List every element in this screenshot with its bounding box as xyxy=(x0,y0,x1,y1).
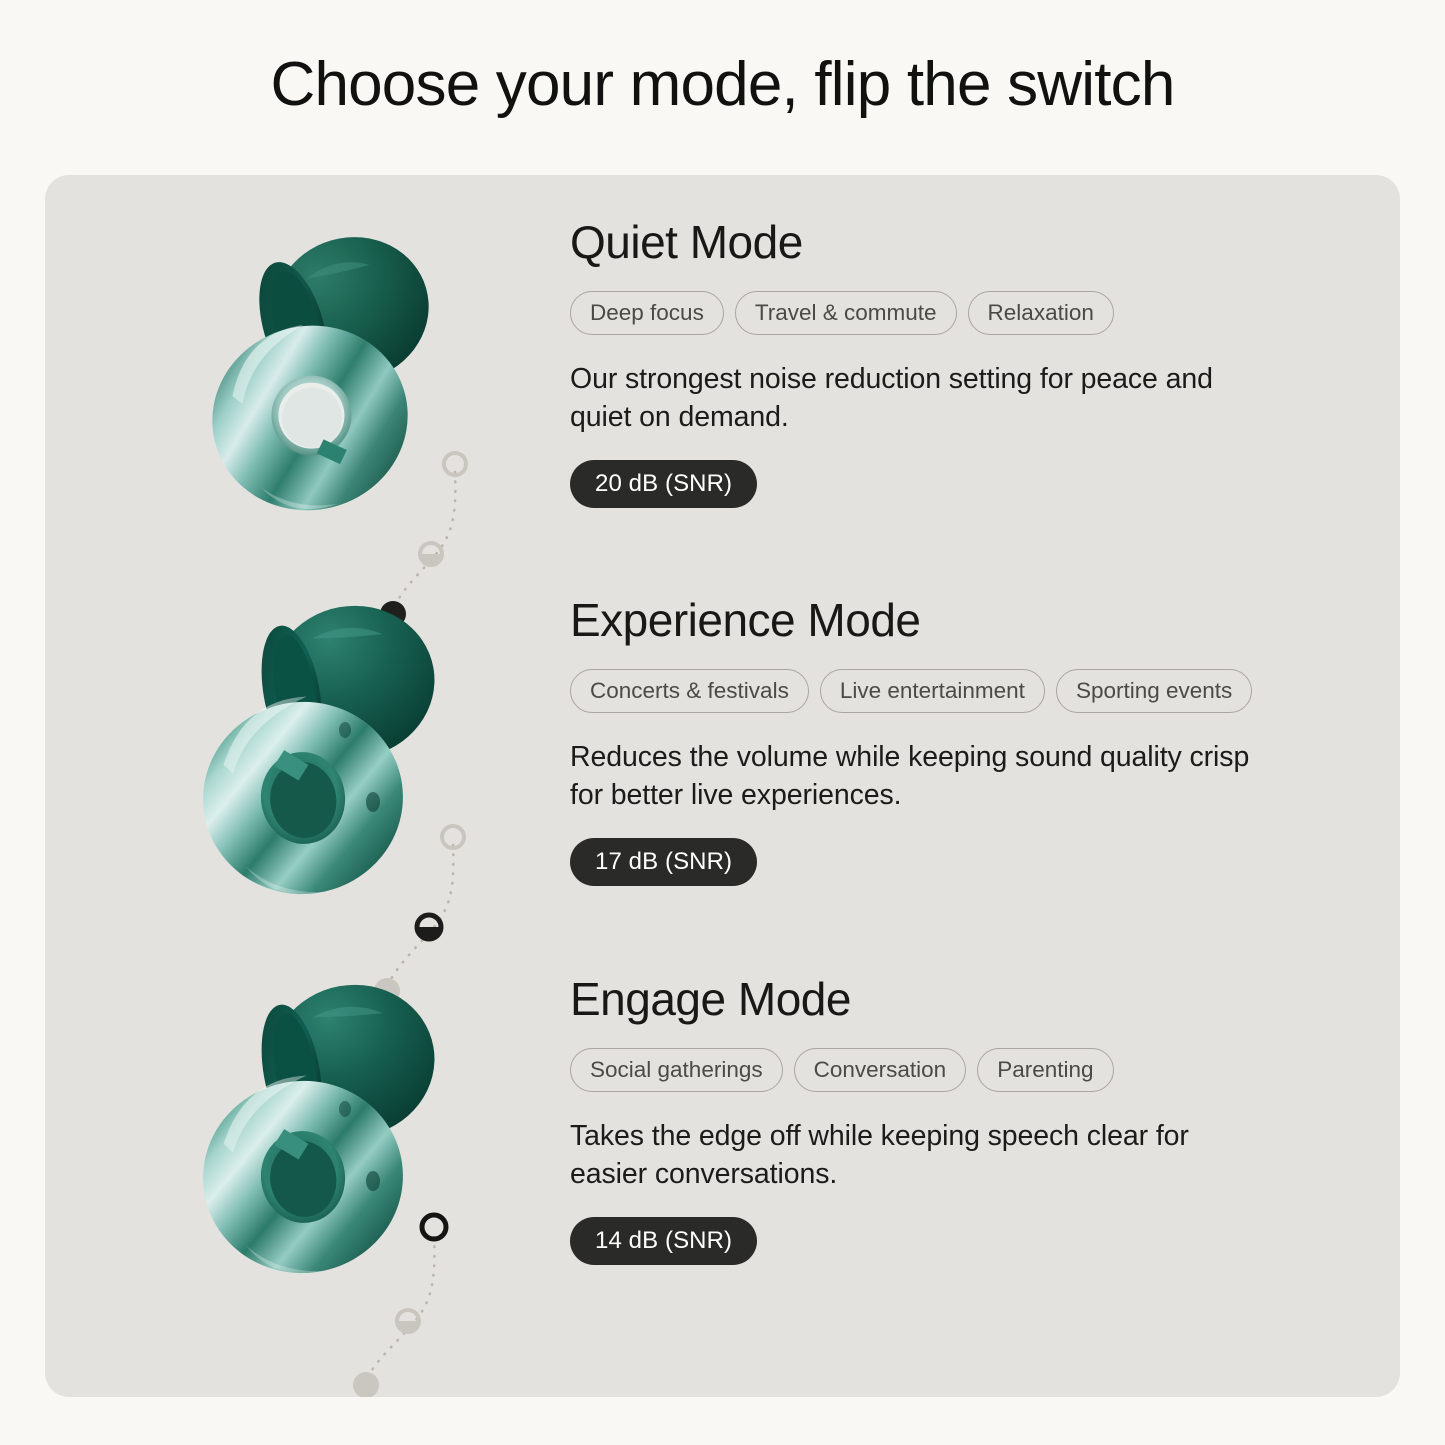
mode-tag-row: Social gatherings Conversation Parenting xyxy=(570,1048,1360,1092)
mode-info-experience: Experience Mode Concerts & festivals Liv… xyxy=(570,592,1400,886)
mode-tag-row: Concerts & festivals Live entertainment … xyxy=(570,669,1360,713)
mode-visual-engage xyxy=(45,971,570,1311)
snr-badge: 17 dB (SNR) xyxy=(570,838,757,886)
mode-row: Experience Mode Concerts & festivals Liv… xyxy=(45,552,1400,929)
mode-tag[interactable]: Parenting xyxy=(977,1048,1113,1092)
mode-tag[interactable]: Live entertainment xyxy=(820,669,1045,713)
mode-row: Engage Mode Social gatherings Conversati… xyxy=(45,929,1400,1306)
mode-description: Reduces the volume while keeping sound q… xyxy=(570,738,1250,814)
mode-visual-quiet xyxy=(45,214,570,554)
mode-comparison-page: Choose your mode, flip the switch xyxy=(0,0,1445,1445)
mode-tag[interactable]: Social gatherings xyxy=(570,1048,783,1092)
mode-tag[interactable]: Relaxation xyxy=(968,291,1114,335)
mode-description: Our strongest noise reduction setting fo… xyxy=(570,360,1250,436)
mode-tag-row: Deep focus Travel & commute Relaxation xyxy=(570,291,1360,335)
mode-tag[interactable]: Deep focus xyxy=(570,291,724,335)
mode-name: Engage Mode xyxy=(570,971,1360,1027)
mode-list: Quiet Mode Deep focus Travel & commute R… xyxy=(45,175,1400,1397)
mode-name: Quiet Mode xyxy=(570,214,1360,270)
page-title: Choose your mode, flip the switch xyxy=(0,48,1445,122)
mode-visual-experience xyxy=(45,592,570,932)
mode-tag[interactable]: Conversation xyxy=(794,1048,967,1092)
mode-description: Takes the edge off while keeping speech … xyxy=(570,1117,1250,1193)
mode-tag[interactable]: Travel & commute xyxy=(735,291,957,335)
mode-info-quiet: Quiet Mode Deep focus Travel & commute R… xyxy=(570,214,1400,508)
mode-row: Quiet Mode Deep focus Travel & commute R… xyxy=(45,175,1400,552)
stepper-path-icon xyxy=(350,1203,470,1397)
snr-badge: 14 dB (SNR) xyxy=(570,1217,757,1265)
mode-info-engage: Engage Mode Social gatherings Conversati… xyxy=(570,971,1400,1265)
snr-badge: 20 dB (SNR) xyxy=(570,460,757,508)
mode-name: Experience Mode xyxy=(570,592,1360,648)
noise-level-stepper-engage[interactable] xyxy=(350,1203,470,1397)
mode-tag[interactable]: Concerts & festivals xyxy=(570,669,809,713)
mode-tag[interactable]: Sporting events xyxy=(1056,669,1252,713)
mode-card: Quiet Mode Deep focus Travel & commute R… xyxy=(45,175,1400,1397)
